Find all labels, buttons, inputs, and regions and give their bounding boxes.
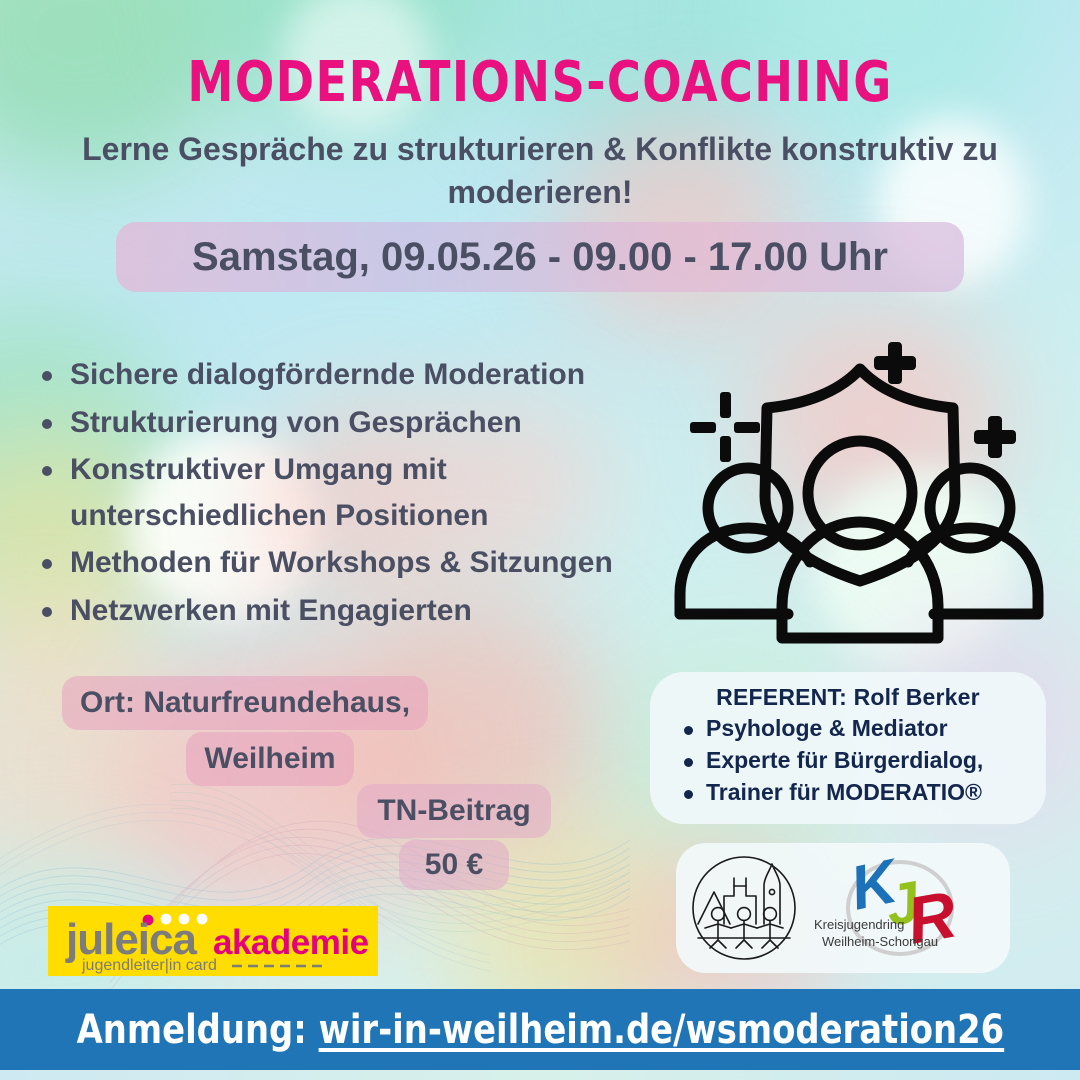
- location-line-1: Ort: Naturfreundehaus,: [62, 676, 428, 730]
- page-title: MODERATIONS-COACHING: [43, 50, 1037, 115]
- list-item: Strukturierung von Gesprächen: [34, 400, 674, 446]
- date-banner-text: Samstag, 09.05.26 - 09.00 - 17.00 Uhr: [192, 235, 888, 280]
- feature-list: Sichere dialogfördernde Moderation Struk…: [34, 352, 674, 636]
- kjr-line-1: Kreisjugendring: [814, 917, 904, 932]
- list-item: Psyhologe & Mediator: [680, 713, 1030, 745]
- referent-heading: REFERENT: Rolf Berker: [666, 684, 1030, 711]
- date-banner: Samstag, 09.05.26 - 09.00 - 17.00 Uhr: [116, 222, 964, 292]
- location-banner: Ort: Naturfreundehaus, Weilheim: [62, 676, 478, 786]
- fee-label: TN-Beitrag: [357, 784, 550, 838]
- partner-logos-card: K J R Kreisjugendring Weilheim-Schongau: [676, 843, 1010, 973]
- poster-canvas: MODERATIONS-COACHING Lerne Gespräche zu …: [0, 0, 1080, 1080]
- list-item: Trainer für MODERATIO®: [680, 777, 1030, 809]
- kjr-line-2: Weilheim-Schongau: [822, 934, 938, 949]
- fee-amount: 50 €: [399, 840, 509, 890]
- registration-link[interactable]: wir-in-weilheim.de/wsmoderation26: [318, 1007, 1004, 1053]
- footer-prefix: Anmeldung:: [76, 1007, 306, 1053]
- location-line-2: Weilheim: [186, 732, 353, 786]
- svg-text:akademie: akademie: [213, 923, 369, 962]
- list-item: Methoden für Workshops & Sitzungen: [34, 540, 674, 586]
- registration-footer[interactable]: Anmeldung: wir-in-weilheim.de/wsmoderati…: [0, 989, 1080, 1070]
- list-item: Netzwerken mit Engagierten: [34, 588, 674, 634]
- list-item: Konstruktiver Umgang mit unterschiedlich…: [34, 447, 674, 538]
- referent-list: Psyhologe & Mediator Experte für Bürgerd…: [666, 713, 1030, 809]
- referent-card: REFERENT: Rolf Berker Psyhologe & Mediat…: [650, 672, 1046, 824]
- svg-text:jugendleiter|in card: jugendleiter|in card: [81, 957, 217, 974]
- footer-text: Anmeldung: wir-in-weilheim.de/wsmoderati…: [76, 1007, 1004, 1053]
- footer-bottom-strip: [0, 1070, 1080, 1080]
- list-item: Experte für Bürgerdialog,: [680, 745, 1030, 777]
- juleica-akademie-logo-icon: juleica akademie jugendleiter|in card: [48, 906, 378, 976]
- wir-in-weilheim-logo-icon: [688, 852, 800, 964]
- list-item: Sichere dialogfördernde Moderation: [34, 352, 674, 398]
- group-shield-icon: [672, 336, 1058, 646]
- page-subtitle: Lerne Gespräche zu strukturieren & Konfl…: [60, 128, 1020, 214]
- kjr-logo-icon: K J R Kreisjugendring Weilheim-Schongau: [804, 850, 984, 966]
- fee-banner: TN-Beitrag 50 €: [348, 784, 560, 890]
